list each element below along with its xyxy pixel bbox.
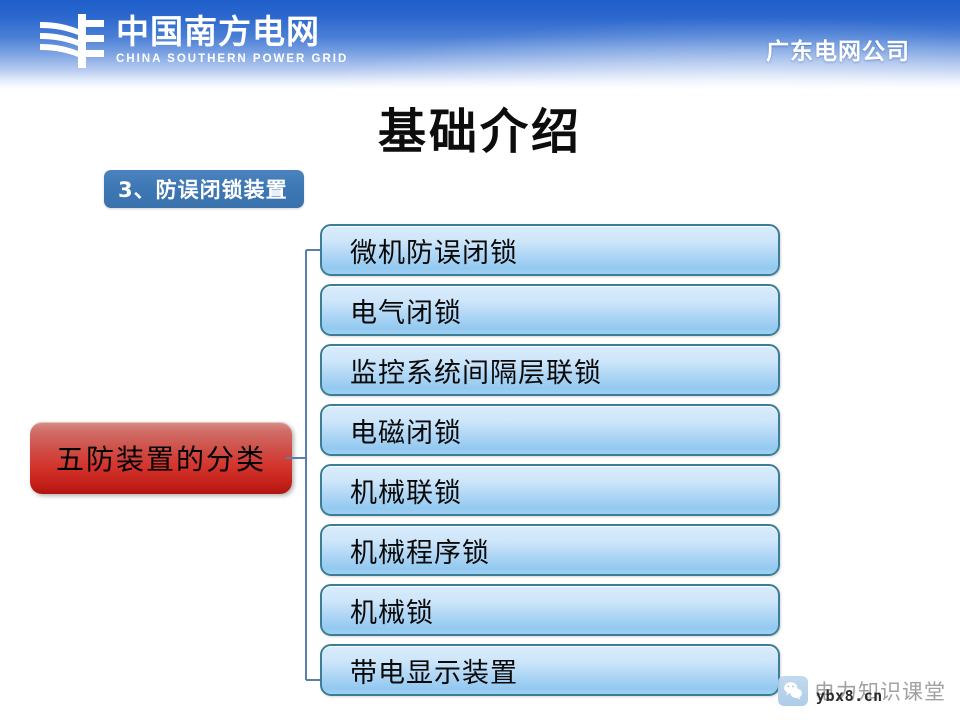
list-item-label: 机械联锁 bbox=[322, 471, 462, 510]
list-item-label: 微机防误闭锁 bbox=[322, 231, 518, 270]
wechat-icon bbox=[778, 676, 808, 706]
list-item[interactable]: 微机防误闭锁 bbox=[320, 224, 780, 276]
list-item[interactable]: 带电显示装置 bbox=[320, 644, 780, 696]
brand-logo-text: 中国南方电网 CHINA SOUTHERN POWER GRID bbox=[116, 12, 348, 66]
list-item[interactable]: 电气闭锁 bbox=[320, 284, 780, 336]
list-item[interactable]: 电磁闭锁 bbox=[320, 404, 780, 456]
list-item-label: 监控系统间隔层联锁 bbox=[322, 351, 602, 390]
brand-name-en: CHINA SOUTHERN POWER GRID bbox=[116, 52, 348, 66]
list-item[interactable]: 机械联锁 bbox=[320, 464, 780, 516]
list-item[interactable]: 机械锁 bbox=[320, 584, 780, 636]
list-item[interactable]: 监控系统间隔层联锁 bbox=[320, 344, 780, 396]
list-item-label: 机械锁 bbox=[322, 591, 434, 630]
slide-header: 中国南方电网 CHINA SOUTHERN POWER GRID 广东电网公司 bbox=[0, 0, 960, 88]
list-item[interactable]: 机械程序锁 bbox=[320, 524, 780, 576]
section-heading-chip: 3、防误闭锁装置 bbox=[104, 170, 304, 208]
list-item-label: 电气闭锁 bbox=[322, 291, 462, 330]
company-name: 广东电网公司 bbox=[766, 32, 910, 66]
page-title: 基础介绍 bbox=[0, 92, 960, 162]
watermark-domain: ybx8.cn bbox=[816, 687, 883, 705]
device-category-list: 微机防误闭锁 电气闭锁 监控系统间隔层联锁 电磁闭锁 机械联锁 机械程序锁 机械… bbox=[320, 224, 780, 704]
diagram-root-node: 五防装置的分类 bbox=[30, 422, 292, 494]
brand-logo: 中国南方电网 CHINA SOUTHERN POWER GRID bbox=[38, 12, 348, 70]
list-item-label: 带电显示装置 bbox=[322, 651, 518, 690]
power-grid-logo-icon bbox=[38, 12, 106, 70]
slide: 中国南方电网 CHINA SOUTHERN POWER GRID 广东电网公司 … bbox=[0, 0, 960, 720]
watermark: 电力知识课堂 ybx8.cn bbox=[778, 676, 946, 706]
list-item-label: 机械程序锁 bbox=[322, 531, 490, 570]
list-item-label: 电磁闭锁 bbox=[322, 411, 462, 450]
diagram-root-label: 五防装置的分类 bbox=[56, 438, 266, 478]
brand-name-cn: 中国南方电网 bbox=[116, 13, 348, 51]
